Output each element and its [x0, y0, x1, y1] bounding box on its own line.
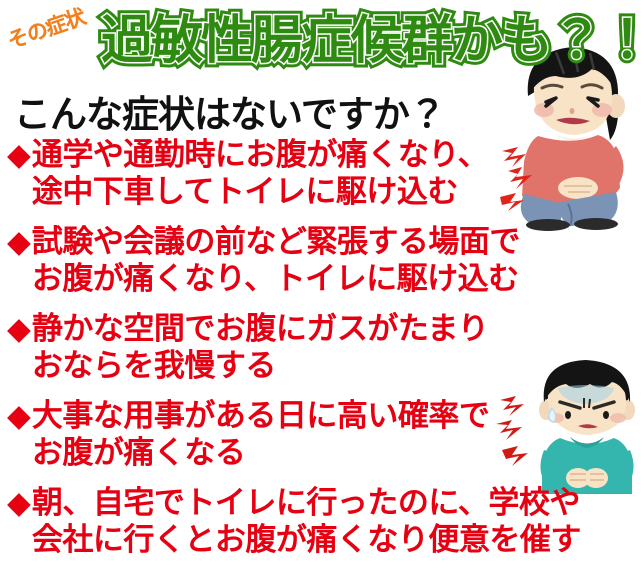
list-item-text-4: 大事な用事がある日に高い確率でお腹が痛くなる	[32, 397, 490, 471]
list-item: ◆ 通学や通勤時にお腹が痛くなり、途中下車してトイレに駆け込む	[0, 136, 644, 210]
list-item-text-5: 朝、自宅でトイレに行ったのに、学校や会社に行くとお腹が痛くなり便意を催す	[32, 484, 581, 558]
bullet-diamond-icon: ◆	[7, 310, 31, 348]
list-item-text-1: 通学や通勤時にお腹が痛くなり、途中下車してトイレに駆け込む	[32, 136, 488, 210]
list-item: ◆ 大事な用事がある日に高い確率でお腹が痛くなる	[0, 397, 644, 471]
symptom-list: ◆ 通学や通勤時にお腹が痛くなり、途中下車してトイレに駆け込む ◆ 試験や会議の…	[0, 136, 644, 571]
bullet-diamond-icon: ◆	[7, 223, 31, 261]
bullet-diamond-icon: ◆	[7, 136, 31, 174]
header-banner: その症状 その症状 過敏性腸症候群かも？！ 過敏性腸症候群かも？！ 過敏性腸症候…	[0, 0, 644, 62]
list-item-text-2: 試験や会議の前など緊張する場面でお腹が痛くなり、トイレに駆け込む	[32, 223, 520, 297]
list-item: ◆ 朝、自宅でトイレに行ったのに、学校や会社に行くとお腹が痛くなり便意を催す	[0, 484, 644, 558]
bullet-diamond-icon: ◆	[7, 484, 31, 522]
nose-shape	[570, 108, 575, 114]
list-item-text-3: 静かな空間でお腹にガスがたまりおならを我慢する	[32, 310, 489, 384]
badge-sono-shojo: その症状	[3, 1, 88, 55]
bullet-diamond-icon: ◆	[7, 397, 31, 435]
list-item: ◆ 試験や会議の前など緊張する場面でお腹が痛くなり、トイレに駆け込む	[0, 223, 644, 297]
page-title: 過敏性腸症候群かも？！	[101, 0, 644, 73]
list-item: ◆ 静かな空間でお腹にガスがたまりおならを我慢する	[0, 310, 644, 384]
cheek-left	[534, 103, 554, 117]
subheading: こんな症状はないですか？	[14, 84, 445, 138]
